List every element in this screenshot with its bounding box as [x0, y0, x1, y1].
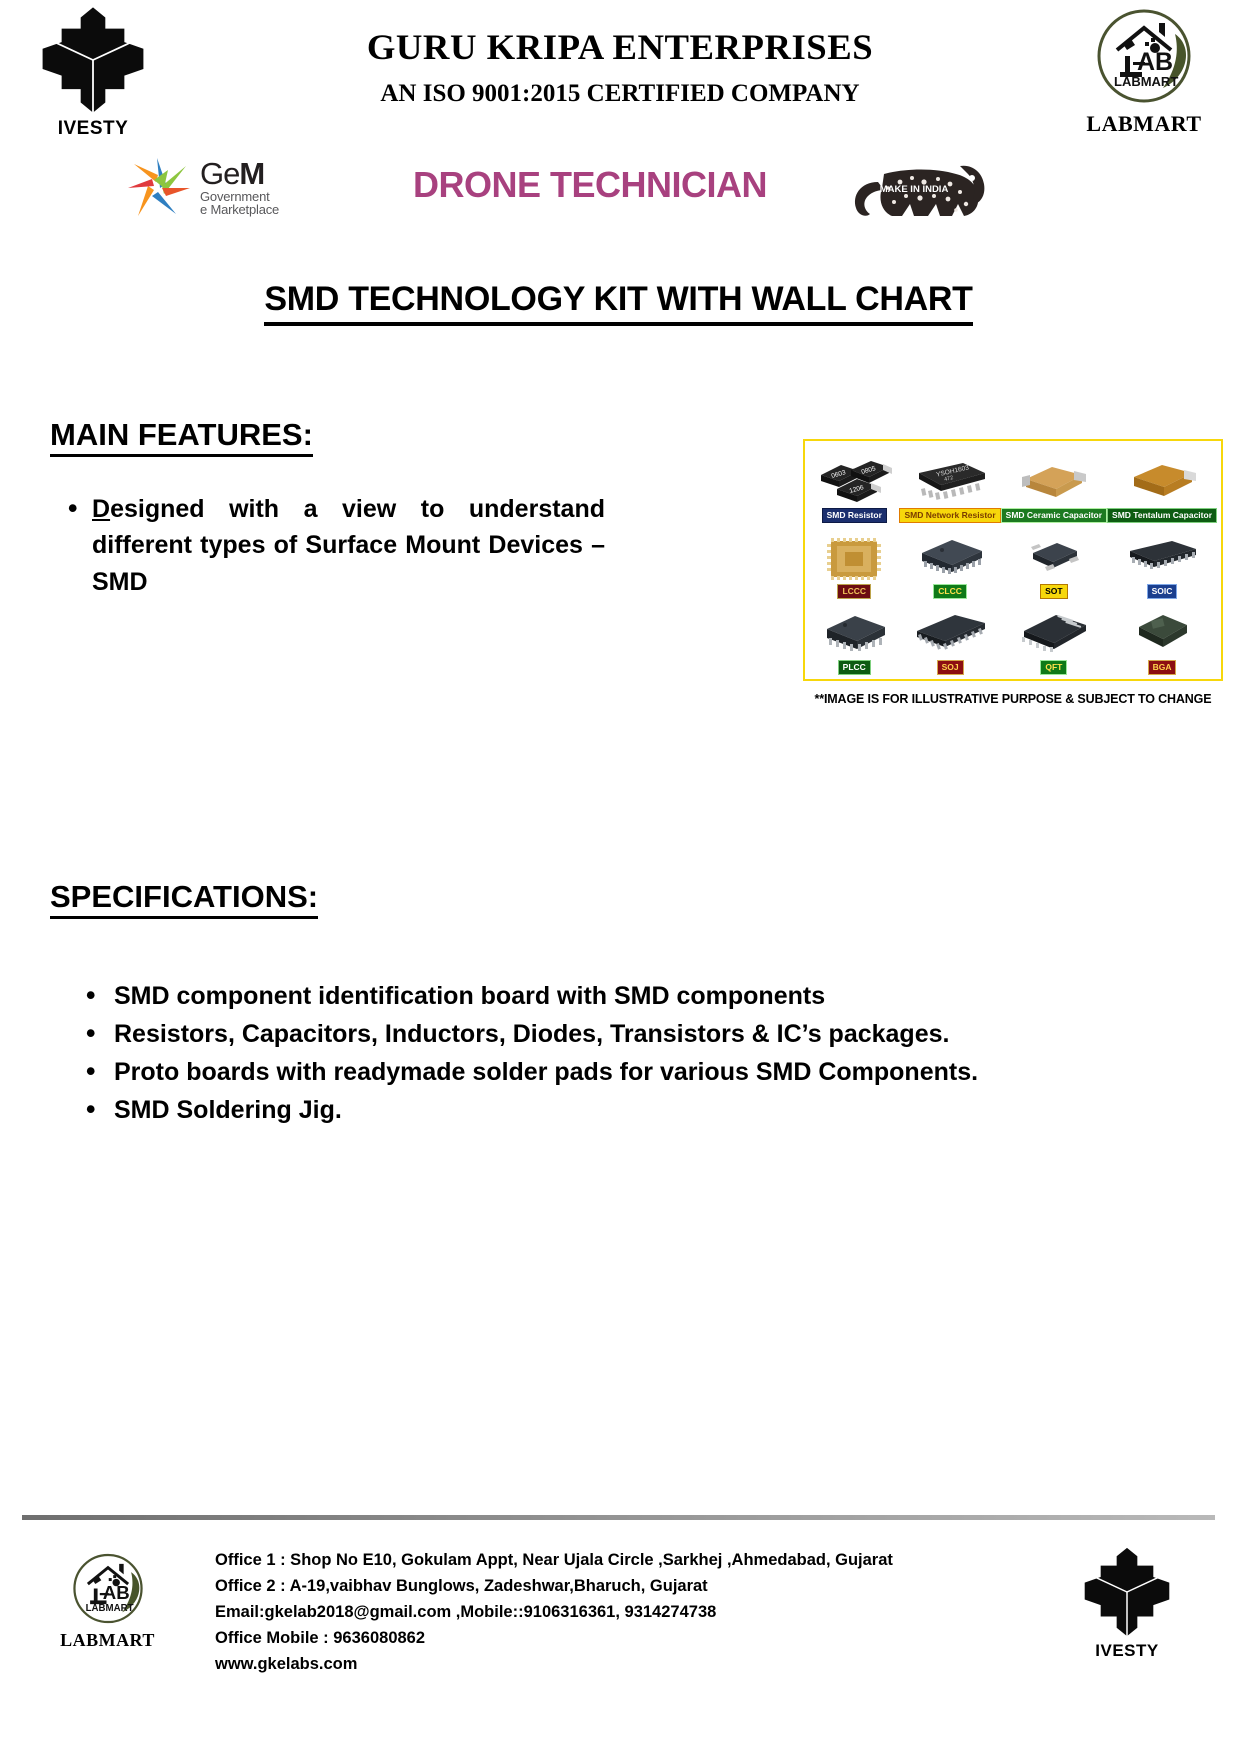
gem-logo: GeM Government e Marketplace — [124, 154, 279, 220]
smd-plcc-package-icon — [817, 611, 891, 657]
smd-bga-package-icon — [1129, 611, 1195, 657]
smd-cell: LCCC — [809, 523, 899, 599]
smd-label: SMD Tentalum Capacitor — [1107, 508, 1217, 523]
smd-disclaimer-note: **IMAGE IS FOR ILLUSTRATIVE PURPOSE & SU… — [803, 692, 1223, 706]
main-features-list: Designed with a view to understand diffe… — [50, 491, 605, 600]
header-ivesty-logo: IVESTY — [28, 4, 158, 140]
smd-cell: SOT — [1001, 523, 1107, 599]
labmart-house-microscope-logo: AB LABMART — [1089, 6, 1199, 110]
footer-website-line: www.gkelabs.com — [215, 1651, 1017, 1677]
gem-star-logo — [124, 154, 194, 220]
feature-lead-letter: D — [92, 495, 110, 523]
smd-illustration-figure: 0603 0805 — [803, 439, 1223, 706]
list-item: SMD component identification board with … — [70, 977, 1187, 1015]
smd-cell: YSOH1603 472 SMD Network Resistor — [899, 447, 1000, 523]
footer-labmart-logo: AB LABMART LABMART — [0, 1541, 215, 1651]
gem-logo-sub2: e Marketplace — [200, 203, 279, 216]
smd-label: SMD Ceramic Capacitor — [1001, 508, 1107, 523]
svg-text:LABMART: LABMART — [85, 1603, 133, 1614]
make-in-india-lion-logo: MAKE IN INDIA — [840, 152, 990, 224]
document-footer: AB LABMART LABMART Office 1 : Shop No E1… — [0, 1515, 1237, 1750]
company-iso-line: AN ISO 9001:2015 CERTIFIED COMPANY — [200, 80, 1040, 108]
labmart-house-microscope-logo: AB LABMART — [67, 1551, 149, 1629]
smd-soj-package-icon — [909, 611, 991, 657]
list-item: Resistors, Capacitors, Inductors, Diodes… — [70, 1015, 1187, 1053]
smd-cell: SOJ — [899, 599, 1000, 675]
smd-lccc-package-icon — [823, 535, 885, 581]
gem-logo-title: GeM — [200, 158, 279, 190]
product-category-title: DRONE TECHNICIAN — [350, 164, 830, 206]
footer-ivesty-label: IVESTY — [1017, 1641, 1237, 1661]
list-item: Designed with a view to understand diffe… — [50, 491, 605, 600]
company-name: GURU KRIPA ENTERPRISES — [192, 26, 1049, 68]
smd-label: LCCC — [837, 584, 871, 599]
page-title-text: SMD TECHNOLOGY KIT WITH WALL CHART — [264, 280, 972, 326]
document-page: IVESTY GURU KRIPA ENTERPRISES AN ISO 900… — [0, 0, 1237, 1750]
smd-cell: 0603 0805 — [809, 447, 899, 523]
make-in-india-label: MAKE IN INDIA — [880, 184, 949, 195]
footer-office1-line: Office 1 : Shop No E10, Gokulam Appt, Ne… — [215, 1547, 1017, 1573]
svg-text:LABMART: LABMART — [1114, 74, 1178, 89]
document-header: IVESTY GURU KRIPA ENTERPRISES AN ISO 900… — [0, 0, 1237, 150]
footer-office2-line: Office 2 : A-19,vaibhav Bunglows, Zadesh… — [215, 1573, 1017, 1599]
smd-qft-package-icon — [1014, 611, 1094, 657]
smd-label: BGA — [1148, 660, 1177, 675]
smd-tantalum-cap-icon — [1126, 459, 1198, 505]
footer-divider — [22, 1515, 1215, 1520]
footer-labmart-label: LABMART — [0, 1630, 215, 1651]
smd-soic-package-icon — [1122, 535, 1202, 581]
make-in-india-logo: MAKE IN INDIA — [840, 152, 1010, 229]
subheader-row: GeM Government e Marketplace DRONE TECHN… — [0, 150, 1237, 232]
smd-component-grid: 0603 0805 — [809, 447, 1217, 675]
feature-text: esigned with a view to understand differ… — [92, 495, 605, 596]
smd-cell: QFT — [1001, 599, 1107, 675]
ivesty-logo-label: IVESTY — [28, 118, 158, 140]
specifications-heading: SPECIFICATIONS: — [50, 879, 318, 915]
smd-soic-network-icon: YSOH1603 472 — [909, 459, 991, 505]
labmart-logo-label: LABMART — [1069, 111, 1219, 137]
smd-cell: CLCC — [899, 523, 1000, 599]
specifications-section: SPECIFICATIONS: SMD component identifica… — [0, 879, 1237, 1129]
header-labmart-logo: AB LABMART LABMART — [1069, 6, 1219, 137]
footer-office-mobile-line: Office Mobile : 9636080862 — [215, 1625, 1017, 1651]
smd-chip-resistors-icon: 0603 0805 — [815, 459, 893, 505]
list-item: Proto boards with readymade solder pads … — [70, 1053, 1187, 1091]
footer-ivesty-logo: IVESTY — [1017, 1541, 1237, 1661]
smd-cell: SMD Ceramic Capacitor — [1001, 447, 1107, 523]
smd-sot-transistor-icon — [1021, 535, 1087, 581]
list-item: SMD Soldering Jig. — [70, 1091, 1187, 1129]
smd-cell: BGA — [1107, 599, 1217, 675]
smd-label: CLCC — [933, 584, 967, 599]
smd-label: PLCC — [838, 660, 871, 675]
smd-label: SOT — [1040, 584, 1067, 599]
smd-label: SOJ — [937, 660, 964, 675]
smd-ceramic-cap-icon — [1018, 459, 1090, 505]
smd-cell: PLCC — [809, 599, 899, 675]
smd-illustration-box: 0603 0805 — [803, 439, 1223, 681]
smd-clcc-package-icon — [912, 535, 988, 581]
gem-logo-sub1: Government — [200, 190, 279, 203]
main-features-heading: MAIN FEATURES: — [50, 417, 313, 453]
smd-label: SOIC — [1147, 584, 1178, 599]
main-features-section: MAIN FEATURES: Designed with a view to u… — [0, 417, 1237, 717]
footer-email-mobile-line: Email:gkelab2018@gmail.com ,Mobile::9106… — [215, 1599, 1017, 1625]
smd-label: QFT — [1040, 660, 1067, 675]
smd-label: SMD Resistor — [822, 508, 887, 523]
specifications-list: SMD component identification board with … — [50, 977, 1187, 1129]
ivesty-cube-logo — [1080, 1545, 1174, 1639]
company-identity: GURU KRIPA ENTERPRISES AN ISO 9001:2015 … — [200, 26, 1040, 108]
smd-cell: SMD Tentalum Capacitor — [1107, 447, 1217, 523]
smd-cell: SOIC — [1107, 523, 1217, 599]
ivesty-cube-logo — [37, 4, 149, 116]
footer-contact-block: Office 1 : Shop No E10, Gokulam Appt, Ne… — [215, 1541, 1017, 1677]
page-title: SMD TECHNOLOGY KIT WITH WALL CHART — [0, 280, 1237, 319]
smd-label: SMD Network Resistor — [899, 508, 1000, 523]
